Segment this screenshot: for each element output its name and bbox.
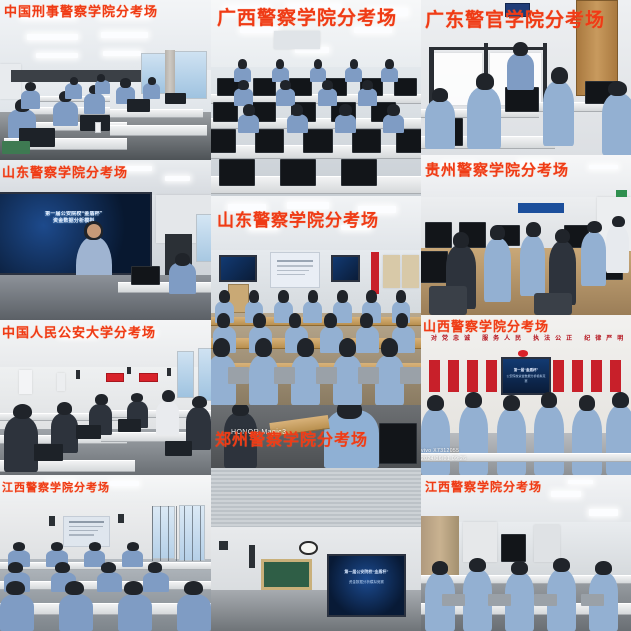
photo-label-7: 中国人民公安大学分考场 bbox=[2, 322, 156, 341]
collage-cell-2[interactable]: 广西警察学院分考场 bbox=[211, 0, 421, 196]
photo-label-9: 山西警察学院分考场 bbox=[423, 316, 549, 335]
collage-cell-8[interactable]: 第一届公安院校“金盾杯” 资金数据分析模拟竞赛 HONOR Magic3 郑州警… bbox=[211, 405, 421, 631]
collage-cell-7[interactable]: 中国人民公安大学分考场 bbox=[0, 320, 211, 475]
photo-label-11: 江西警察学院分考场 bbox=[425, 478, 542, 495]
photo-label-4: 山东警察学院分考场 bbox=[2, 162, 128, 181]
collage-cell-5[interactable]: 山东警察学院分考场 bbox=[211, 196, 421, 405]
photo-image-4: 第一届公安院校“金盾杯” 资金数据分析模拟 bbox=[0, 160, 211, 320]
photo-image-10 bbox=[0, 475, 211, 631]
flag-icon-2 bbox=[139, 373, 158, 382]
photo-label-3: 广东警官学院分考场 bbox=[425, 5, 605, 32]
flag-icon-1 bbox=[106, 373, 125, 382]
photo-label-2: 广西警察学院分考场 bbox=[217, 3, 397, 30]
collage-cell-4[interactable]: 第一届公安院校“金盾杯” 资金数据分析模拟 山东警察学院分考场 bbox=[0, 160, 211, 320]
photo-label-1: 中国刑事警察学院分考场 bbox=[4, 1, 158, 20]
watermark-vivo-line1: vivo X7312055 bbox=[421, 448, 466, 456]
photo-label-10: 江西警察学院分考场 bbox=[2, 479, 110, 495]
collage-cell-6[interactable]: 贵州警察学院分考场 bbox=[421, 155, 631, 315]
photo-label-5: 山东警察学院分考场 bbox=[217, 206, 379, 231]
photo-label-8: 郑州警察学院分考场 bbox=[215, 426, 368, 450]
photo-label-6: 贵州警察学院分考场 bbox=[425, 159, 569, 180]
collage-cell-10[interactable]: 江西警察学院分考场 bbox=[0, 475, 211, 631]
photo-image-11 bbox=[421, 475, 631, 631]
watermark-vivo: vivo X7312055 2024/06/01 09:26 bbox=[421, 448, 466, 463]
photo-image-1 bbox=[0, 0, 211, 160]
collage-cell-1[interactable]: 中国刑事警察学院分考场 bbox=[0, 0, 211, 160]
screen-text-4: 第一届公安院校“金盾杯” 资金数据分析模拟 bbox=[4, 211, 144, 225]
collage-cell-9[interactable]: 对党忠诚 服务人民 执法公正 纪律严明 第一届“金盾杯” 公安院校资金数据分析模… bbox=[421, 315, 631, 475]
photo-image-7 bbox=[0, 320, 211, 475]
photo-collage: 中国刑事警察学院分考场 bbox=[0, 0, 631, 631]
collage-cell-3[interactable]: 广东警官学院分考场 bbox=[421, 0, 631, 155]
watermark-vivo-line2: 2024/06/01 09:26 bbox=[421, 456, 466, 464]
collage-cell-11[interactable]: 江西警察学院分考场 bbox=[421, 475, 631, 631]
